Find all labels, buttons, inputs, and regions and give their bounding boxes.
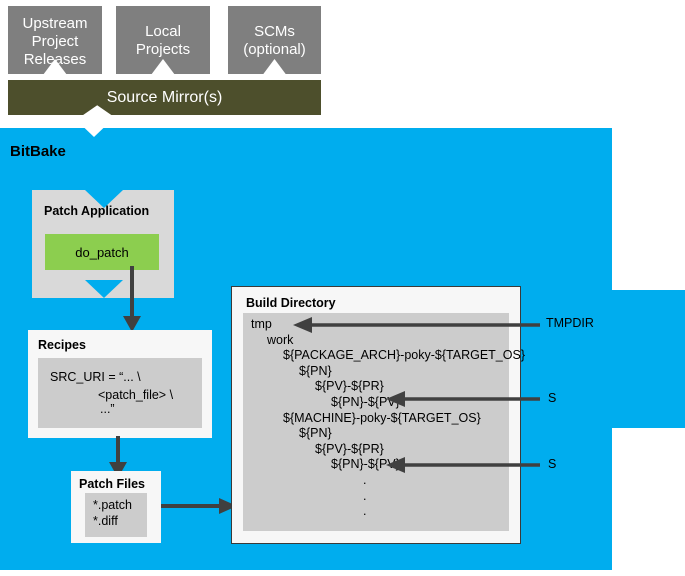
build-directory-tree-line: .: [251, 489, 525, 505]
arrow-tmpdir-to-tmp: [290, 315, 540, 335]
build-directory-tree-line: ${PN}: [251, 364, 525, 380]
build-directory-tree-box: tmpwork${PACKAGE_ARCH}-poky-${TARGET_OS}…: [243, 313, 509, 531]
patch-files-line1: *.patch: [93, 498, 132, 513]
source-box-upstream-line1: Upstream: [22, 15, 87, 33]
recipes-src-uri-line2: <patch_file> \: [98, 388, 173, 403]
bitbake-label: BitBake: [10, 143, 66, 160]
annotation-label-s-second: S: [548, 457, 556, 471]
recipes-src-uri-box: SRC_URI = “... \ <patch_file> \ ...”: [38, 358, 202, 428]
annotation-label-s-first: S: [548, 391, 556, 405]
build-directory-tree-line: .: [251, 504, 525, 520]
source-mirror-bar[interactable]: Source Mirror(s): [8, 80, 321, 115]
source-box-upstream-line2: Project: [22, 33, 87, 51]
patch-files-list-box: *.patch *.diff: [85, 493, 147, 537]
diagram-canvas: BitBake Upstream Project Releases Local …: [0, 0, 685, 576]
source-box-local-line1: Local: [136, 23, 190, 41]
build-directory-tree-line: ${PACKAGE_ARCH}-poky-${TARGET_OS}: [251, 348, 525, 364]
build-directory-tree-line: ${MACHINE}-poky-${TARGET_OS}: [251, 411, 525, 427]
arrow-s-to-pn-pv-first: [383, 389, 540, 409]
annotation-label-tmpdir: TMPDIR: [546, 316, 594, 330]
source-box-local-projects[interactable]: Local Projects: [116, 6, 210, 74]
patch-application-title: Patch Application: [44, 204, 149, 218]
build-directory-tree-line: .: [251, 473, 525, 489]
source-box-scms-optional[interactable]: SCMs (optional): [228, 6, 321, 74]
source-box-scms-line2: (optional): [243, 41, 306, 59]
patch-files-line2: *.diff: [93, 514, 118, 529]
source-box-scms-line1: SCMs: [243, 23, 306, 41]
source-box-local-line2: Projects: [136, 41, 190, 59]
patch-files-title: Patch Files: [79, 477, 145, 491]
arrow-do-patch-to-recipes: [118, 266, 146, 332]
build-directory-title: Build Directory: [246, 296, 336, 310]
build-directory-tree-line: ${PN}: [251, 426, 525, 442]
do-patch-task-box[interactable]: do_patch: [45, 234, 159, 270]
recipes-src-uri-line1: SRC_URI = “... \: [50, 370, 141, 385]
arrow-patch-files-to-build-directory: [161, 495, 237, 517]
recipes-title: Recipes: [38, 338, 86, 352]
source-box-upstream-line3: Releases: [22, 51, 87, 69]
build-directory-tree: tmpwork${PACKAGE_ARCH}-poky-${TARGET_OS}…: [251, 317, 525, 520]
recipes-src-uri-line3: ...”: [100, 402, 115, 417]
source-box-upstream-project-releases[interactable]: Upstream Project Releases: [8, 6, 102, 74]
arrow-s-to-pn-pv-second: [383, 455, 540, 475]
